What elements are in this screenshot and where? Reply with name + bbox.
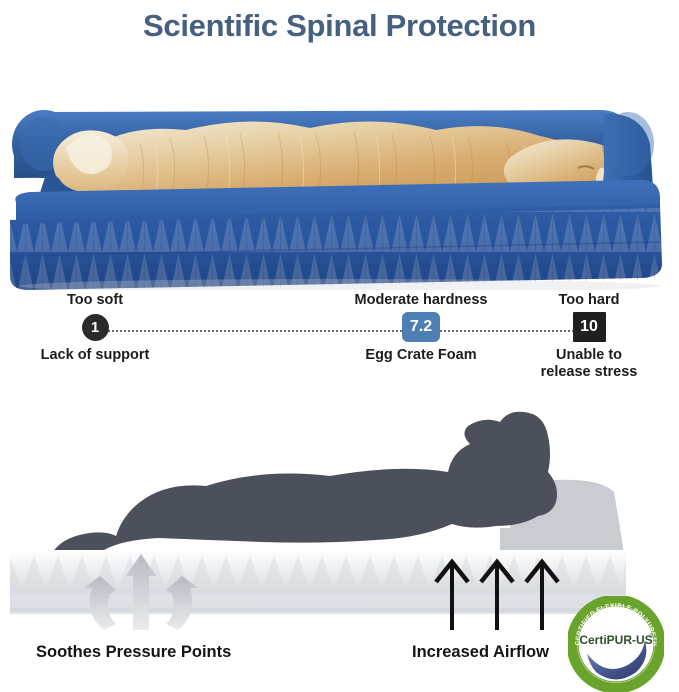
- label-increased-airflow: Increased Airflow: [412, 643, 549, 662]
- certipur-brand-text: CertiPUR-US: [579, 633, 652, 647]
- scale-bottom-label-too-hard-line1: Unable to: [515, 347, 663, 364]
- footer-labels: Soothes Pressure Points Increased Airflo…: [0, 630, 679, 689]
- certipur-us-logo: CONTAINS CERTIFIED FLEXIBLE POLYURETHANE…: [568, 596, 664, 692]
- scale-point-too-soft: Too soft 1 Lack of support: [20, 292, 170, 364]
- page-title-bar: Scientific Spinal Protection: [0, 0, 679, 52]
- scale-point-moderate: Moderate hardness 7.2 Egg Crate Foam: [336, 292, 506, 364]
- scale-badge-row-too-soft: 1: [20, 312, 170, 342]
- scale-bottom-label-too-soft: Lack of support: [20, 347, 170, 364]
- scale-top-label-too-soft: Too soft: [20, 292, 170, 309]
- scale-badge-too-hard: 10: [573, 312, 606, 342]
- product-photo: [0, 52, 679, 290]
- label-soothes-pressure-points: Soothes Pressure Points: [36, 643, 231, 662]
- scale-badge-row-moderate: 7.2: [336, 312, 506, 342]
- scale-badge-moderate: 7.2: [402, 312, 440, 342]
- scale-bottom-label-moderate: Egg Crate Foam: [336, 347, 506, 364]
- scale-top-label-too-hard: Too hard: [515, 292, 663, 309]
- scale-badge-row-too-hard: 10: [515, 312, 663, 342]
- dog-bed-photo-illustration: [0, 52, 679, 290]
- hardness-scale: Too soft 1 Lack of support Moderate hard…: [0, 292, 679, 396]
- scale-point-too-hard: Too hard 10 Unable to release stress: [515, 292, 663, 381]
- scale-top-label-moderate: Moderate hardness: [336, 292, 506, 309]
- scale-bottom-label-too-hard-line2: release stress: [515, 364, 663, 381]
- scale-badge-too-soft: 1: [82, 314, 109, 341]
- page-title: Scientific Spinal Protection: [143, 8, 536, 44]
